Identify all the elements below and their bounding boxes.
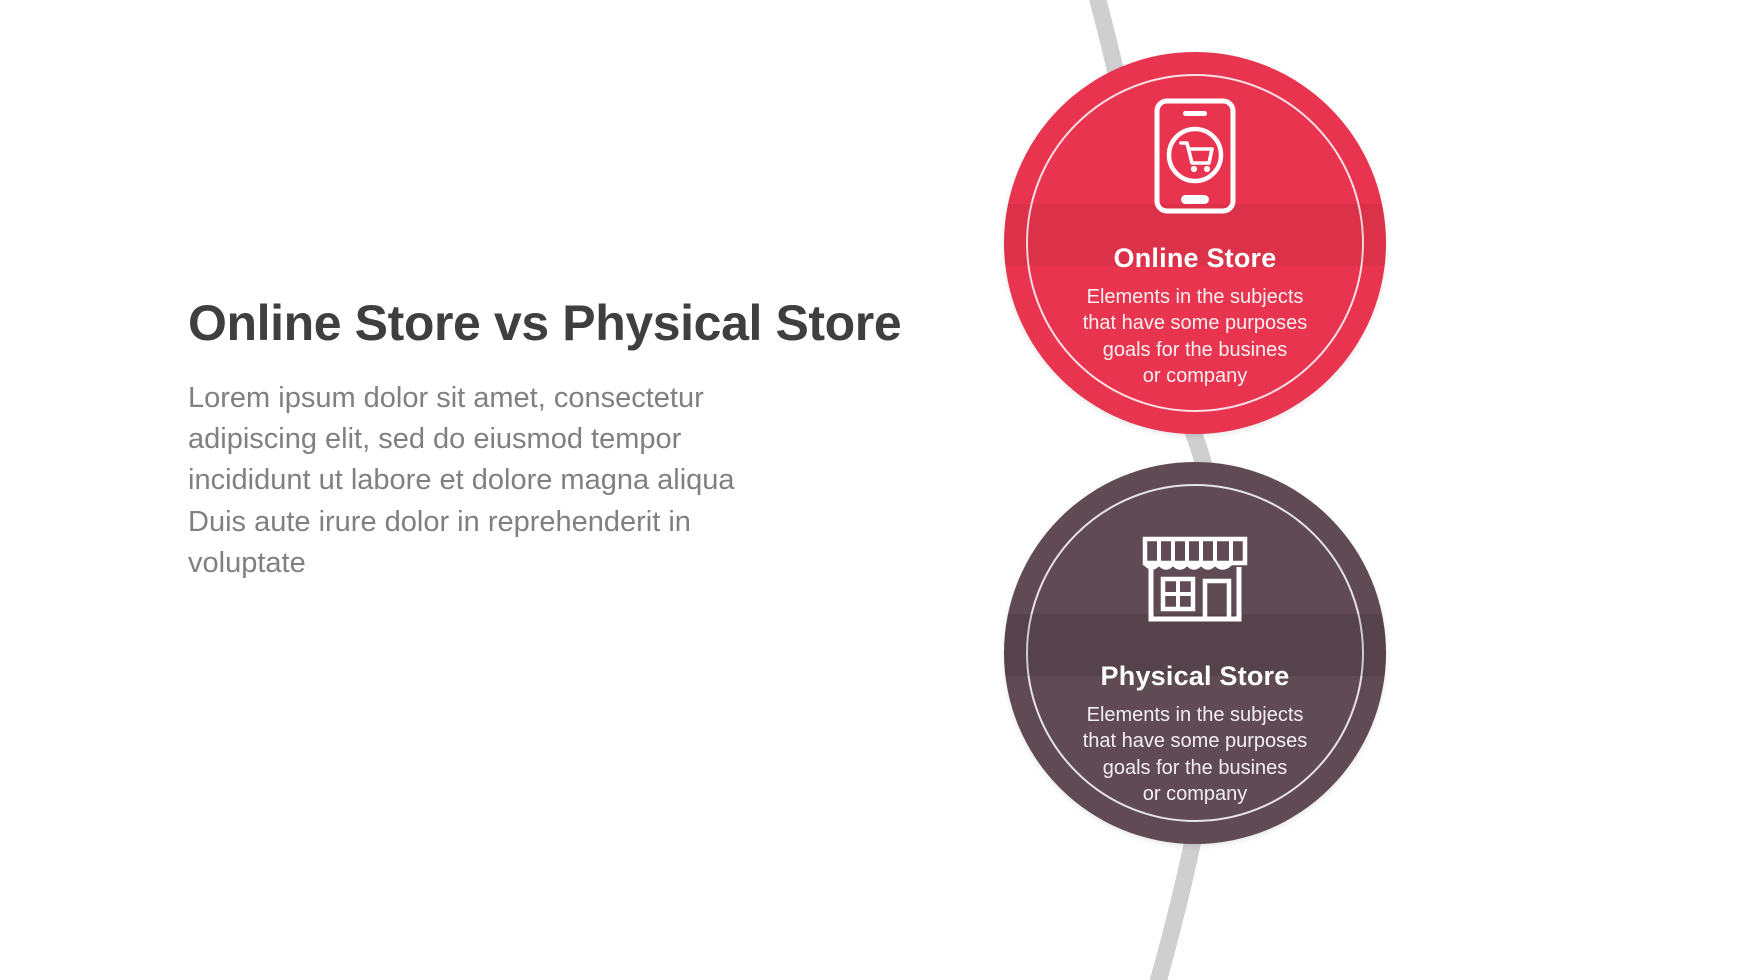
smartphone-shopping-cart-icon <box>1153 96 1237 216</box>
card-description: Elements in the subjects that have some … <box>1070 702 1320 808</box>
card-online-store[interactable]: Online Store Elements in the subjects th… <box>1004 52 1386 434</box>
page-description: Lorem ipsum dolor sit amet, consectetur … <box>188 378 768 584</box>
card-physical-store[interactable]: Physical Store Elements in the subjects … <box>1004 462 1386 844</box>
storefront-icon <box>1139 514 1251 634</box>
infographic-canvas: Online Store vs Physical Store Lorem ips… <box>0 0 1742 980</box>
card-description: Elements in the subjects that have some … <box>1070 284 1320 390</box>
card-title: Physical Store <box>1101 656 1290 696</box>
page-title: Online Store vs Physical Store <box>188 296 988 350</box>
card-title: Online Store <box>1114 238 1277 278</box>
left-text-block: Online Store vs Physical Store Lorem ips… <box>188 296 988 584</box>
